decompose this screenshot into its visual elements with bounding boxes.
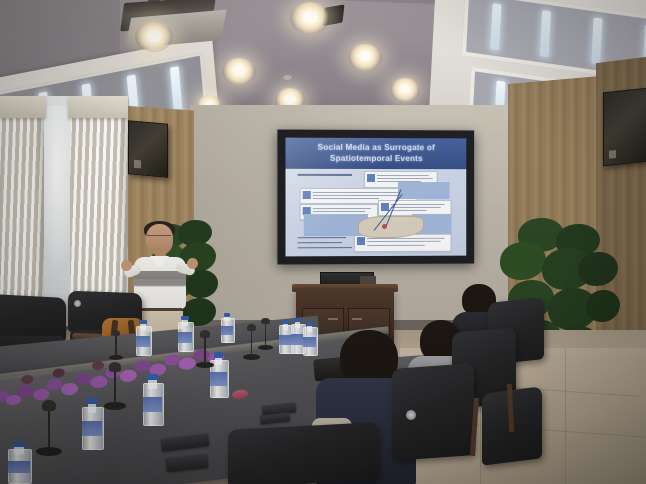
screen-glare [286,138,467,257]
downlight-4 [348,44,382,71]
presenter-hand-right [187,258,198,269]
projection-screen-frame: Social Media as Surrogate of Spatiotempo… [277,130,474,265]
eyeglasses-icon [147,235,171,241]
water-bottle-6 [178,316,192,352]
curtain-valance-left [0,96,46,118]
water-bottle-3 [143,374,162,426]
water-bottle-10 [221,313,233,343]
chair-front-right[interactable] [392,366,474,484]
smoke-detector [283,75,292,80]
microphone-1[interactable] [36,400,62,456]
water-bottle-5 [136,320,150,356]
downlight-6 [390,78,420,102]
wall-speaker-right [603,88,646,167]
microphone-5[interactable] [258,318,273,350]
water-bottle-2 [82,398,102,450]
microphone-2[interactable] [104,362,126,410]
credenza-handle-right[interactable] [352,318,362,320]
downlight-2 [290,2,330,34]
downlight-3 [222,58,256,85]
microphone-6[interactable] [109,330,123,360]
wall-speaker-left [128,120,168,177]
chair-foreground[interactable] [228,420,378,484]
curtain-valance-right [68,96,128,118]
microphone-3[interactable] [196,330,214,368]
downlight-1 [135,22,173,52]
credenza-handle-left[interactable] [328,318,338,320]
conference-room-photo: Social Media as Surrogate of Spatiotempo… [0,0,646,484]
presenter-hand-left [121,260,132,271]
speaker-badge-left [134,160,141,169]
water-bottle-1 [8,442,30,484]
projection-screen: Social Media as Surrogate of Spatiotempo… [286,138,467,257]
water-bottle-9 [303,322,316,356]
curtain-panel-left [0,96,44,326]
speaker-badge-right [609,150,616,159]
